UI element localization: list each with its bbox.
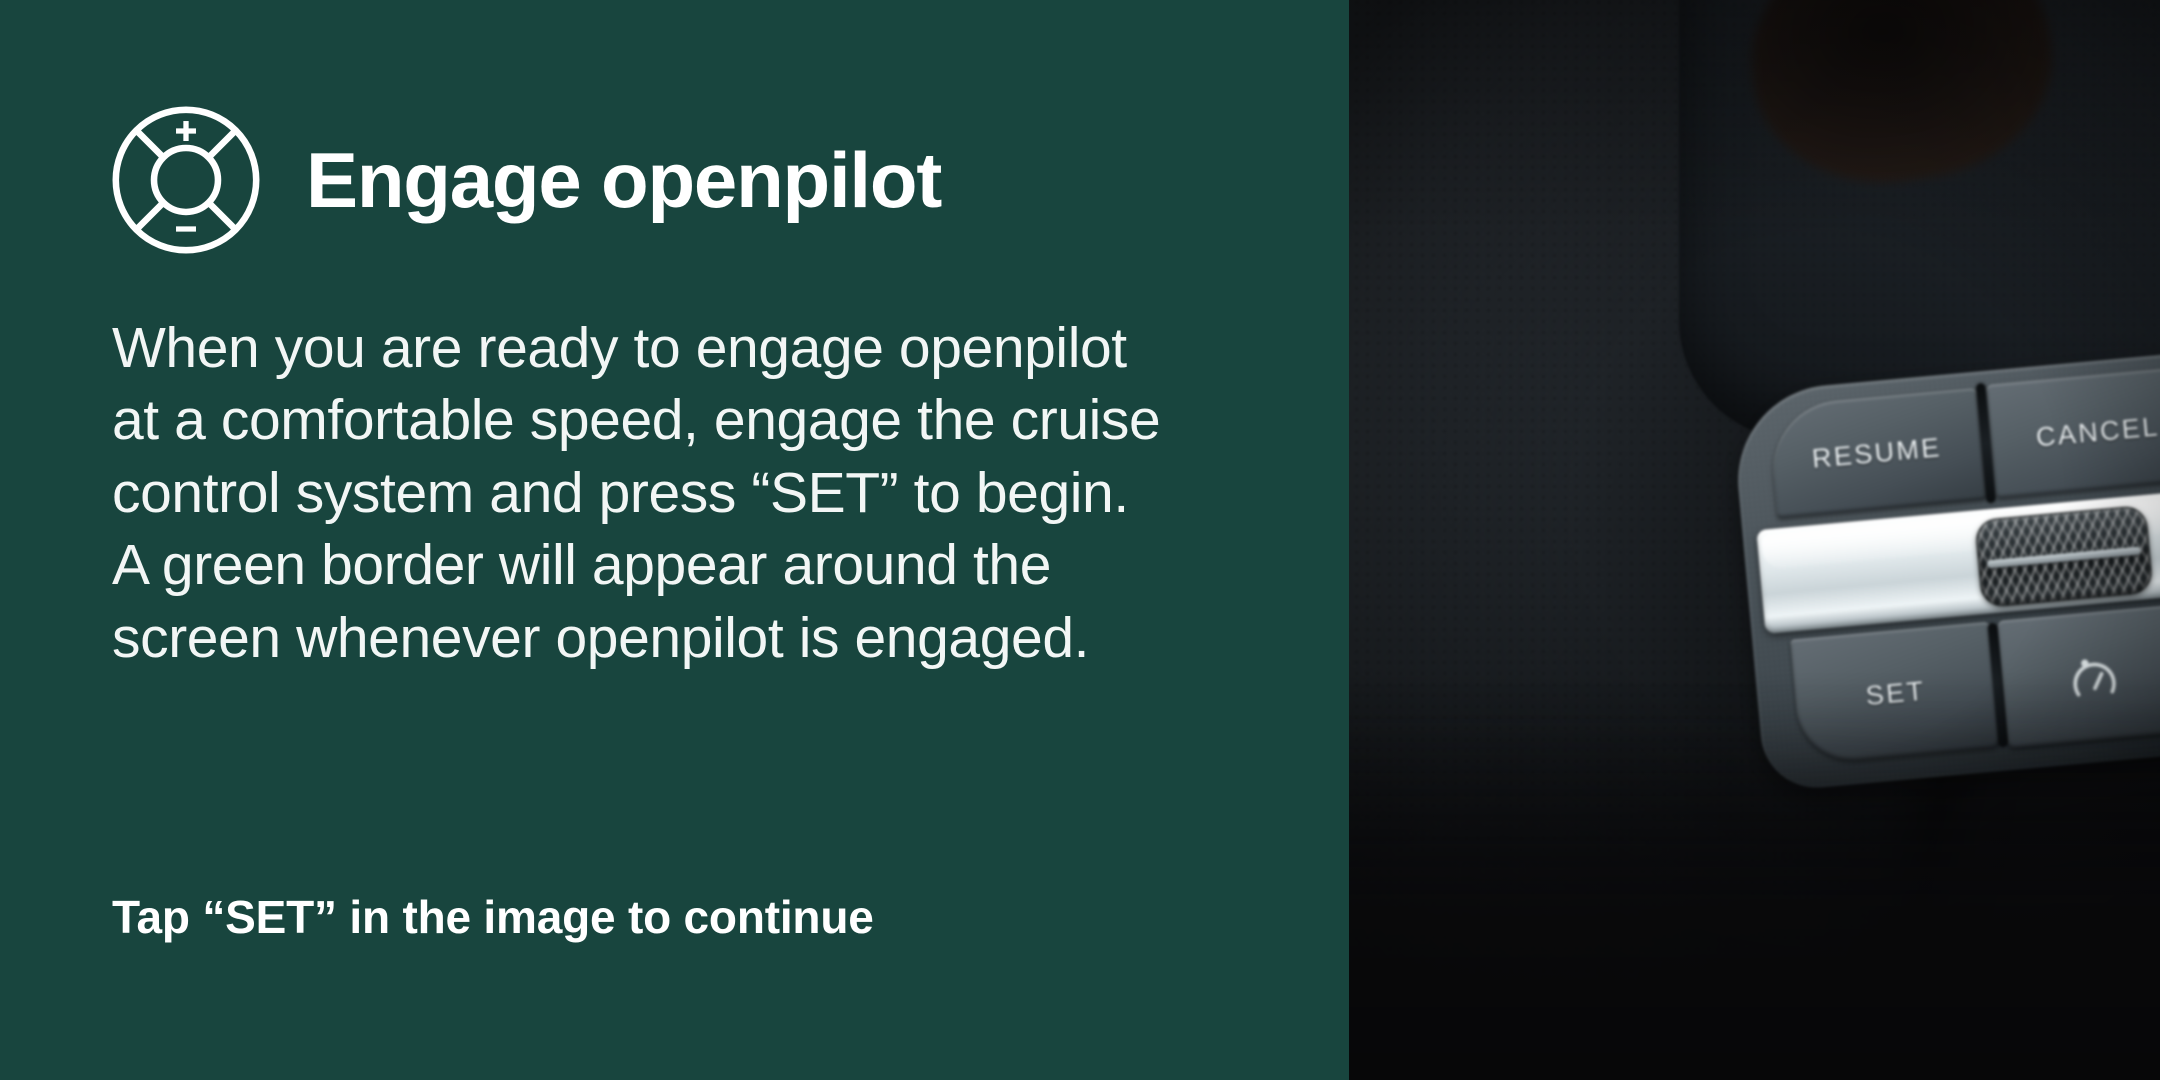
footer-cta: Tap “SET” in the image to continue: [112, 890, 874, 944]
instruction-body: When you are ready to engage openpilot a…: [112, 312, 1292, 674]
panel-header: Engage openpilot: [108, 88, 1349, 272]
rocker-plus-minus: + −: [2154, 501, 2160, 588]
cancel-button-label: CANCEL: [2035, 411, 2160, 453]
photo-shadow: [1349, 710, 2160, 1080]
set-button-label: SET: [1864, 675, 1926, 711]
cruise-control-icon: [108, 102, 264, 258]
page-title: Engage openpilot: [306, 141, 941, 219]
gap-distance-icon: [2062, 645, 2125, 708]
instruction-panel: Engage openpilot When you are ready to e…: [0, 0, 1349, 1080]
knurled-thumbwheel[interactable]: [1974, 505, 2153, 608]
steering-wheel-photo[interactable]: RESUME CANCEL + − SET: [1349, 0, 2160, 1080]
onboarding-screen: Engage openpilot When you are ready to e…: [0, 0, 2160, 1080]
resume-button-label: RESUME: [1811, 432, 1943, 475]
cancel-button[interactable]: CANCEL: [1986, 365, 2160, 498]
